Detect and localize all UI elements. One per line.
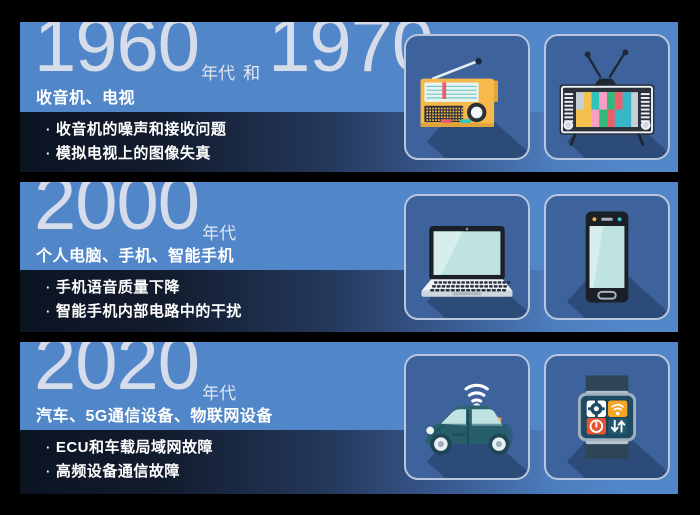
icon-card-laptop[interactable] <box>404 194 530 320</box>
issue-text: 收音机的噪声和接收问题 <box>56 118 227 139</box>
icon-card-radio[interactable] <box>404 34 530 160</box>
issues-list: · 收音机的噪声和接收问题 · 模拟电视上的图像失真 <box>46 118 226 166</box>
era-label-2020: 年代 <box>202 379 236 404</box>
bullet-marker-icon: · <box>46 305 51 318</box>
year-2000: 2000 <box>34 182 199 242</box>
era-label-1960: 年代 <box>201 59 235 84</box>
bullet-marker-icon: · <box>46 441 51 454</box>
panel-subtitle-1960-1970: 收音机、电视 <box>36 84 135 108</box>
radio-icon <box>406 36 528 158</box>
list-item: · 智能手机内部电路中的干扰 <box>46 300 242 321</box>
issues-list: · ECU和车载局域网故障 · 高频设备通信故障 <box>46 436 213 484</box>
bullet-marker-icon: · <box>46 147 51 160</box>
connected-car-icon <box>406 356 528 478</box>
issue-text: 手机语音质量下降 <box>56 276 180 297</box>
issue-text: ECU和车载局域网故障 <box>56 436 213 457</box>
list-item: · 模拟电视上的图像失真 <box>46 142 226 163</box>
bullet-marker-icon: · <box>46 123 51 136</box>
smartphone-icon <box>546 196 668 318</box>
smartwatch-icon <box>546 356 668 478</box>
icon-card-smartwatch[interactable] <box>544 354 670 480</box>
panel-subtitle-2000: 个人电脑、手机、智能手机 <box>36 242 234 266</box>
year-1960: 1960 <box>34 22 199 84</box>
era-label-2000: 年代 <box>202 219 236 244</box>
panel-subtitle-2020: 汽车、5G通信设备、物联网设备 <box>36 402 273 426</box>
issue-text: 智能手机内部电路中的干扰 <box>56 300 242 321</box>
list-item: · ECU和车载局域网故障 <box>46 436 213 457</box>
icon-card-connected-car[interactable] <box>404 354 530 480</box>
icon-card-television[interactable] <box>544 34 670 160</box>
icon-card-smartphone[interactable] <box>544 194 670 320</box>
list-item: · 收音机的噪声和接收问题 <box>46 118 226 139</box>
issue-text: 高频设备通信故障 <box>56 460 180 481</box>
bullet-marker-icon: · <box>46 465 51 478</box>
timeline-panel-2000: 2000 年代 个人电脑、手机、智能手机 · 手机语音质量下降 · 智能手机内部… <box>20 182 678 332</box>
infographic-root: 1960 年代 和 1970 年代 收音机、电视 · 收音机的噪声和接收问题 ·… <box>0 0 700 515</box>
timeline-panel-1960-1970: 1960 年代 和 1970 年代 收音机、电视 · 收音机的噪声和接收问题 ·… <box>20 22 678 172</box>
list-item: · 手机语音质量下降 <box>46 276 242 297</box>
list-item: · 高频设备通信故障 <box>46 460 213 481</box>
timeline-panel-2020: 2020 年代 汽车、5G通信设备、物联网设备 · ECU和车载局域网故障 · … <box>20 342 678 494</box>
conjunction-label: 和 <box>243 59 260 84</box>
crt-television-icon <box>546 36 668 158</box>
issues-list: · 手机语音质量下降 · 智能手机内部电路中的干扰 <box>46 276 242 324</box>
issue-text: 模拟电视上的图像失真 <box>56 142 211 163</box>
bullet-marker-icon: · <box>46 281 51 294</box>
laptop-icon <box>406 196 528 318</box>
year-2020: 2020 <box>34 342 199 402</box>
